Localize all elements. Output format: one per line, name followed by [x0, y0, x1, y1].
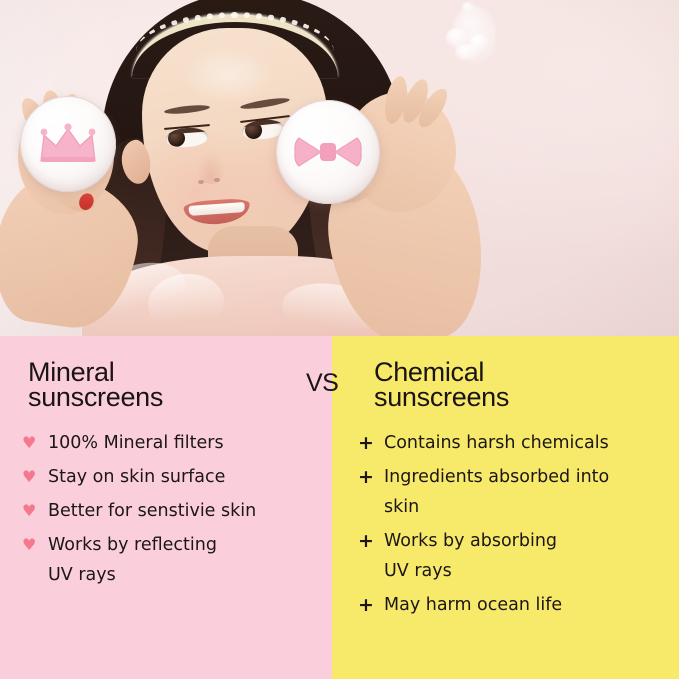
list-item: ♥Works by reflecting UV rays [22, 530, 328, 590]
list-item-text: Contains harsh chemicals [384, 428, 676, 458]
heading-chemical: Chemical sunscreens [374, 360, 509, 410]
plus-bullet-icon: + [358, 590, 384, 620]
list-item-text: Stay on skin surface [48, 462, 328, 492]
heart-bullet-icon: ♥ [22, 428, 48, 458]
list-item-text: 100% Mineral filters [48, 428, 328, 458]
list-item: +Ingredients absorbed into skin [358, 462, 676, 522]
product-photo [0, 0, 679, 336]
heart-bullet-icon: ♥ [22, 530, 48, 560]
comparison-section: Mineral sunscreens ♥100% Mineral filters… [0, 336, 679, 679]
plus-bullet-icon: + [358, 526, 384, 556]
list-item-text: May harm ocean life [384, 590, 676, 620]
list-item: ♥100% Mineral filters [22, 428, 328, 458]
heading-mineral: Mineral sunscreens [28, 360, 163, 410]
heart-bullet-icon: ♥ [22, 462, 48, 492]
chemical-drawbacks-list: +Contains harsh chemicals+Ingredients ab… [358, 428, 676, 624]
list-item: +May harm ocean life [358, 590, 676, 620]
heart-bullet-icon: ♥ [22, 496, 48, 526]
vs-label: VS [306, 369, 338, 398]
panel-mineral-sunscreens: Mineral sunscreens ♥100% Mineral filters… [0, 336, 332, 679]
list-item-text: Better for senstivie skin [48, 496, 328, 526]
panel-chemical-sunscreens: Chemical sunscreens +Contains harsh chem… [332, 336, 679, 679]
list-item-text: Ingredients absorbed into skin [384, 462, 676, 522]
plus-bullet-icon: + [358, 462, 384, 492]
list-item: ♥Better for senstivie skin [22, 496, 328, 526]
list-item: +Contains harsh chemicals [358, 428, 676, 458]
list-item: +Works by absorbing UV rays [358, 526, 676, 586]
list-item: ♥Stay on skin surface [22, 462, 328, 492]
photo-vignette [0, 0, 679, 336]
mineral-benefits-list: ♥100% Mineral filters♥Stay on skin surfa… [22, 428, 328, 594]
list-item-text: Works by reflecting UV rays [48, 530, 328, 590]
product-comparison-image: Mineral sunscreens ♥100% Mineral filters… [0, 0, 679, 679]
list-item-text: Works by absorbing UV rays [384, 526, 676, 586]
plus-bullet-icon: + [358, 428, 384, 458]
